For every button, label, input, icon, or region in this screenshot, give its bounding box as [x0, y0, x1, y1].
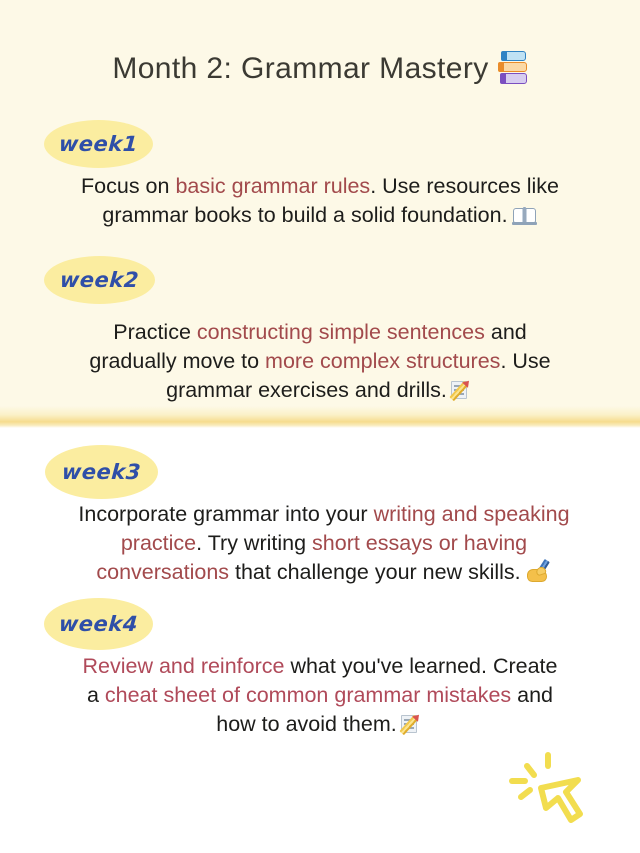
text-segment: constructing simple sentences [197, 320, 485, 344]
text-segment: Review and reinforce [83, 654, 285, 678]
memo-icon [451, 379, 474, 401]
infographic-page: Month 2: Grammar Mastery week1Focus on b… [0, 0, 640, 853]
text-segment: and [511, 683, 553, 707]
week-badge-label: week2 [59, 268, 140, 292]
description-line: Incorporate grammar into your writing an… [28, 500, 620, 529]
text-segment: more complex structures [265, 349, 500, 373]
text-segment: gradually move to [89, 349, 265, 373]
description-line: a cheat sheet of common grammar mistakes… [30, 681, 610, 710]
description-line: Review and reinforce what you've learned… [30, 652, 610, 681]
page-title-text: Month 2: Grammar Mastery [112, 52, 488, 85]
week-badge-label: week3 [61, 460, 142, 484]
week-description-1: Focus on basic grammar rules. Use resour… [28, 172, 612, 230]
text-segment: basic grammar rules [175, 174, 370, 198]
week-badge-1: week1 [44, 120, 153, 168]
description-line: grammar exercises and drills. [40, 376, 600, 405]
cursor-pointer-svg [500, 740, 620, 840]
week-description-2: Practice constructing simple sentences a… [40, 318, 600, 405]
books-icon [498, 51, 528, 85]
text-segment: how to avoid them. [216, 712, 396, 736]
text-segment: . Use [500, 349, 550, 373]
text-segment: writing and speaking [374, 502, 570, 526]
description-line: grammar books to build a solid foundatio… [28, 201, 612, 230]
text-segment: what you've learned. Create [284, 654, 557, 678]
text-segment: that challenge your new skills. [229, 560, 521, 584]
week-badge-4: week4 [44, 598, 153, 650]
cursor-pointer-icon [500, 740, 620, 840]
text-segment: grammar books to build a solid foundatio… [102, 203, 507, 227]
description-line: Practice constructing simple sentences a… [40, 318, 600, 347]
page-title: Month 2: Grammar Mastery [0, 52, 640, 86]
open-book-icon [512, 206, 538, 226]
text-segment: Practice [113, 320, 197, 344]
text-segment: short essays or having [312, 531, 527, 555]
week-description-4: Review and reinforce what you've learned… [30, 652, 610, 739]
description-line: practice. Try writing short essays or ha… [28, 529, 620, 558]
week-description-3: Incorporate grammar into your writing an… [28, 500, 620, 587]
text-segment: . Try writing [196, 531, 312, 555]
week-badge-label: week4 [58, 612, 139, 636]
week-badge-label: week1 [58, 132, 139, 156]
content-layer: Month 2: Grammar Mastery week1Focus on b… [0, 0, 640, 853]
text-segment: cheat sheet of common grammar mistakes [105, 683, 511, 707]
description-line: conversations that challenge your new sk… [28, 558, 620, 587]
text-segment: and [485, 320, 527, 344]
description-line: how to avoid them. [30, 710, 610, 739]
description-line: Focus on basic grammar rules. Use resour… [28, 172, 612, 201]
week-badge-2: week2 [44, 256, 155, 304]
text-segment: a [87, 683, 105, 707]
description-line: gradually move to more complex structure… [40, 347, 600, 376]
text-segment: . Use resources like [370, 174, 559, 198]
text-segment: conversations [96, 560, 229, 584]
text-segment: Focus on [81, 174, 175, 198]
text-segment: Incorporate grammar into your [78, 502, 373, 526]
text-segment: grammar exercises and drills. [166, 378, 447, 402]
writing-hand-icon [526, 561, 552, 583]
week-badge-3: week3 [45, 445, 158, 499]
text-segment: practice [121, 531, 196, 555]
memo-icon [401, 713, 424, 735]
